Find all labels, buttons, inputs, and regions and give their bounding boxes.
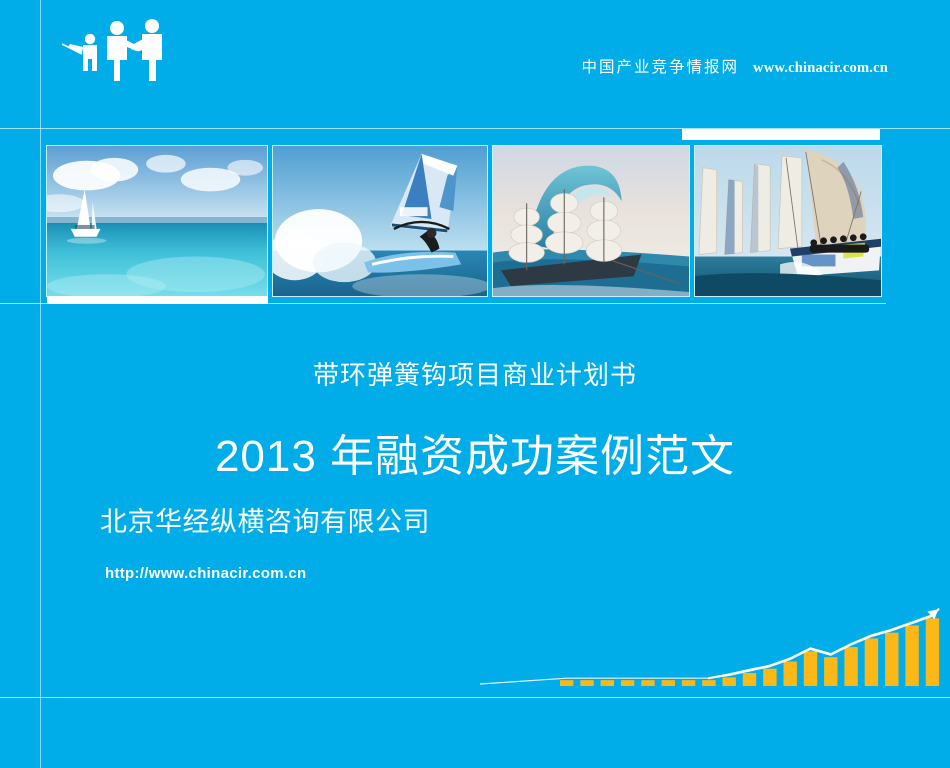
people-handshake-logo [60,14,178,86]
company-url[interactable]: http://www.chinacir.com.cn [105,565,306,582]
growth-bar [601,680,614,686]
growth-bar [702,680,715,686]
slide-canvas: 中国产业竞争情报网www.chinacir.com.cn [0,0,950,768]
growth-bar [905,626,918,687]
top-right-accent-bar [682,129,880,140]
growth-trend-line [480,616,932,684]
growth-bar [621,680,634,686]
growth-bar-chart [480,600,950,698]
growth-bars [560,618,939,686]
page-title: 2013 年融资成功案例范文 [0,420,950,484]
header-site-url: www.chinacir.com.cn [753,60,888,76]
windsurfer-on-wave-photo [272,145,488,297]
growth-bar [723,677,736,686]
header-site-name: 中国产业竞争情报网 [582,59,740,76]
project-subtitle: 带环弹簧钩项目商业计划书 [0,355,950,392]
growth-bar [784,662,797,687]
growth-bar [885,633,898,686]
growth-bar [662,680,675,686]
photo-strip [46,145,882,297]
trend-arrow [709,609,939,678]
company-name: 北京华经纵横咨询有限公司 [100,500,430,539]
growth-bar [763,669,776,686]
tall-ship-with-big-wave-photo [492,145,690,297]
growth-bar [824,657,837,686]
growth-bar [844,647,857,686]
growth-bar [682,680,695,686]
racing-yachts-photo [694,145,882,297]
growth-bar [926,618,939,686]
growth-bar [560,680,573,686]
growth-bar [641,680,654,686]
growth-bar [580,680,593,686]
growth-bar [743,673,756,686]
growth-bar [804,651,817,686]
header-site-info: 中国产业竞争情报网www.chinacir.com.cn [582,55,888,77]
growth-bar [865,639,878,687]
sailboat-on-turquoise-sea-photo [46,145,268,297]
